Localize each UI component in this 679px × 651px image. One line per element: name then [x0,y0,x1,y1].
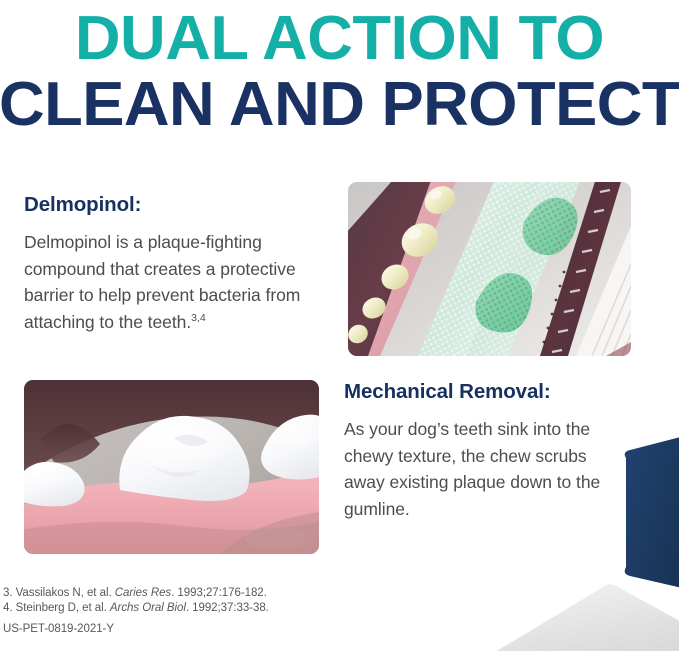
dental-barrier-photo-graphic [348,182,631,356]
footnote-4: 4. Steinberg D, et al. Archs Oral Biol. … [3,601,423,616]
footnote-3-authors: Vassilakos N, et al. [16,587,112,599]
section-delmopinol-body-text: Delmopinol is a plaque-fighting compound… [24,232,300,332]
footnote-4-journal: Archs Oral Biol [110,602,186,614]
footnote-4-citation: . 1992;37:33-38. [186,602,269,614]
section-delmopinol-superscript: 3,4 [191,312,205,324]
footnote-4-number: 4. [3,602,13,614]
section-delmopinol-body: Delmopinol is a plaque-fighting compound… [24,229,334,335]
headline-line-secondary: CLEAN AND PROTECT [0,72,679,138]
gray-hexagon-decoration [470,565,679,651]
gray-hexagon-shape [470,565,679,651]
headline: DUAL ACTION TO CLEAN AND PROTECT [0,0,679,138]
infographic-page: DUAL ACTION TO CLEAN AND PROTECT Delmopi… [0,0,679,651]
teeth-gumline-photo-graphic [24,380,319,554]
dental-barrier-photo [348,182,631,356]
section-delmopinol-title: Delmopinol: [24,193,334,217]
footnote-3-journal: Caries Res [115,587,171,599]
section-mechanical-removal: Mechanical Removal: As your dog’s teeth … [344,380,614,522]
footnote-3-citation: . 1993;27:176-182. [171,587,267,599]
footnotes: 3. Vassilakos N, et al. Caries Res. 1993… [3,586,423,615]
footnote-3-number: 3. [3,587,13,599]
headline-line-primary: DUAL ACTION TO [0,0,679,72]
section-mechanical-removal-title: Mechanical Removal: [344,380,614,404]
document-code: US-PET-0819-2021-Y [3,622,114,637]
section-mechanical-removal-body: As your dog’s teeth sink into the chewy … [344,416,614,522]
teeth-gumline-photo [24,380,319,554]
section-delmopinol: Delmopinol: Delmopinol is a plaque-fight… [24,193,334,335]
footnote-3: 3. Vassilakos N, et al. Caries Res. 1993… [3,586,423,601]
footnote-4-authors: Steinberg D, et al. [16,602,107,614]
